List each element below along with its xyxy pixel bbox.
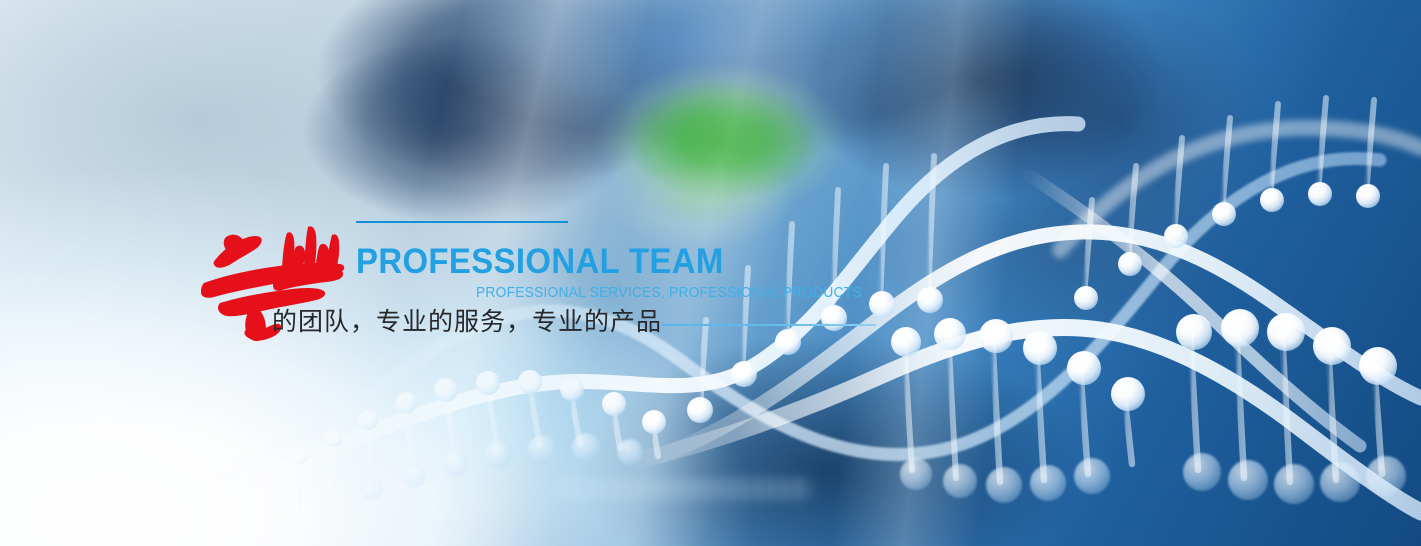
helix-distant-arc: [1060, 128, 1421, 250]
subheadline-services-products: PROFESSIONAL SERVICES, PROFESSIONAL PROD…: [476, 285, 862, 302]
decorative-rule-bottom: [662, 324, 876, 326]
promotional-banner: 专业: [0, 0, 1421, 546]
helix-base-pair-rungs: [296, 98, 1382, 508]
decorative-rule-top: [356, 221, 568, 223]
tagline-chinese: 的团队，专业的服务，专业的产品: [272, 306, 662, 338]
background-blurred-label-text: [560, 478, 810, 500]
banner-text-block: 专业: [0, 0, 1421, 546]
headline-professional-team: PROFESSIONAL TEAM: [356, 243, 724, 281]
helix-back-nodes: [361, 433, 1406, 504]
